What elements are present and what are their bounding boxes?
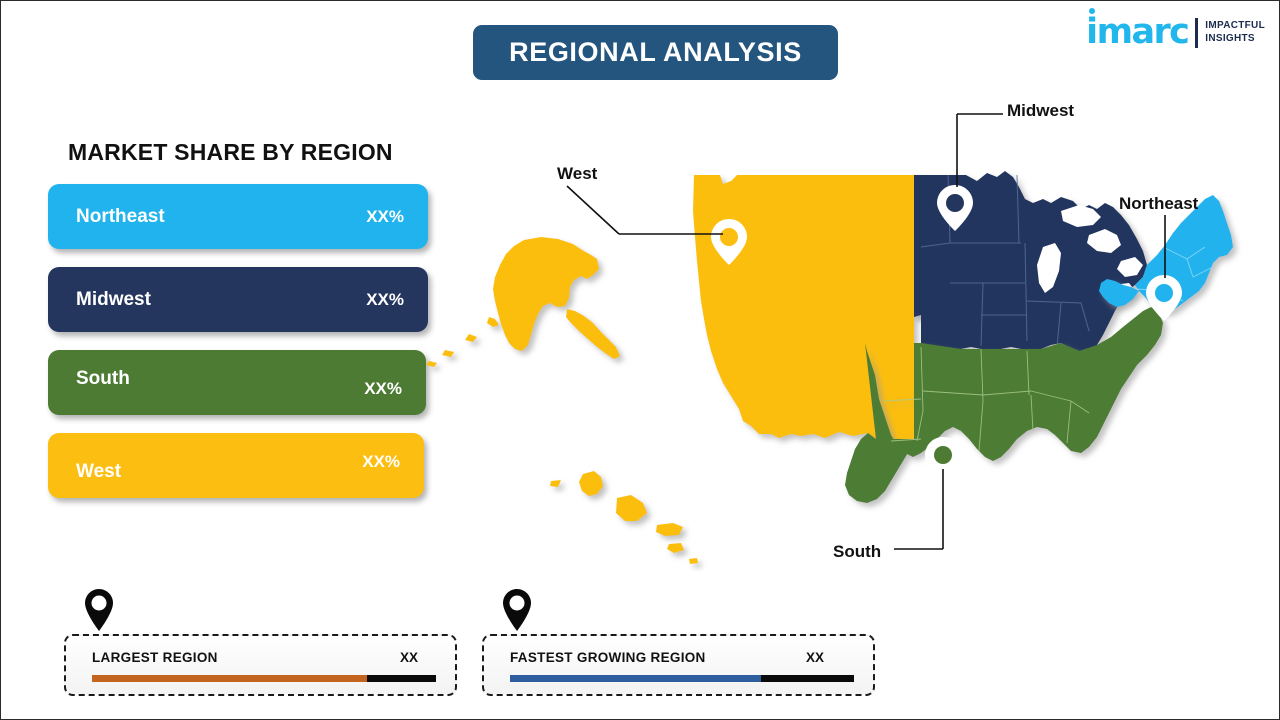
metric-progress-track	[92, 675, 436, 682]
map-label-west: West	[557, 164, 597, 184]
metric-progress-fill	[92, 675, 367, 682]
logo-tagline-line1: IMPACTFUL	[1205, 20, 1265, 31]
page-title-banner: REGIONAL ANALYSIS	[473, 25, 838, 80]
logo-tagline: IMPACTFUL INSIGHTS	[1205, 20, 1265, 45]
metric-value: XX	[806, 650, 824, 665]
market-share-bar-list: Northeast XX% Midwest XX% South XX% West…	[48, 184, 430, 516]
market-share-heading: MARKET SHARE BY REGION	[68, 139, 393, 166]
metric-label: LARGEST REGION	[92, 650, 218, 665]
map-region-hawaii[interactable]	[550, 471, 698, 564]
logo-divider	[1195, 18, 1198, 48]
map-pin-icon	[84, 588, 114, 632]
share-bar-label: Midwest	[76, 289, 366, 311]
metric-card-largest-region[interactable]: LARGEST REGION XX	[64, 634, 457, 696]
metric-progress-track	[510, 675, 854, 682]
share-bar-value: XX%	[366, 207, 404, 227]
share-bar-west[interactable]: West XX%	[48, 433, 424, 498]
share-bar-label: Northeast	[76, 206, 366, 228]
logo-wordmark-text: imarc	[1086, 12, 1188, 52]
map-label-midwest: Midwest	[1007, 101, 1074, 121]
share-bar-south[interactable]: South XX%	[48, 350, 426, 415]
metric-label: FASTEST GROWING REGION	[510, 650, 706, 665]
share-bar-northeast[interactable]: Northeast XX%	[48, 184, 428, 249]
map-label-south: South	[833, 542, 881, 562]
metric-progress-fill	[510, 675, 761, 682]
logo-wordmark: imarc	[1086, 15, 1188, 50]
share-bar-value: XX%	[364, 379, 402, 399]
metric-card-fastest-growing-region[interactable]: FASTEST GROWING REGION XX	[482, 634, 875, 696]
share-bar-label: West	[76, 461, 362, 483]
share-bar-label: South	[76, 368, 364, 390]
map-region-west[interactable]	[693, 175, 921, 439]
brand-logo: imarc IMPACTFUL INSIGHTS	[1086, 15, 1265, 50]
us-region-map	[421, 151, 1251, 571]
share-bar-midwest[interactable]: Midwest XX%	[48, 267, 428, 332]
logo-tagline-line2: INSIGHTS	[1205, 33, 1255, 44]
map-pin-south[interactable]	[925, 437, 961, 483]
share-bar-value: XX%	[362, 452, 400, 472]
map-label-northeast: Northeast	[1119, 194, 1198, 214]
metric-value: XX	[400, 650, 418, 665]
share-bar-value: XX%	[366, 290, 404, 310]
infographic-canvas: REGIONAL ANALYSIS imarc IMPACTFUL INSIGH…	[0, 0, 1280, 720]
map-pin-icon	[502, 588, 532, 632]
map-region-alaska[interactable]	[426, 237, 620, 367]
page-title: REGIONAL ANALYSIS	[509, 37, 802, 68]
